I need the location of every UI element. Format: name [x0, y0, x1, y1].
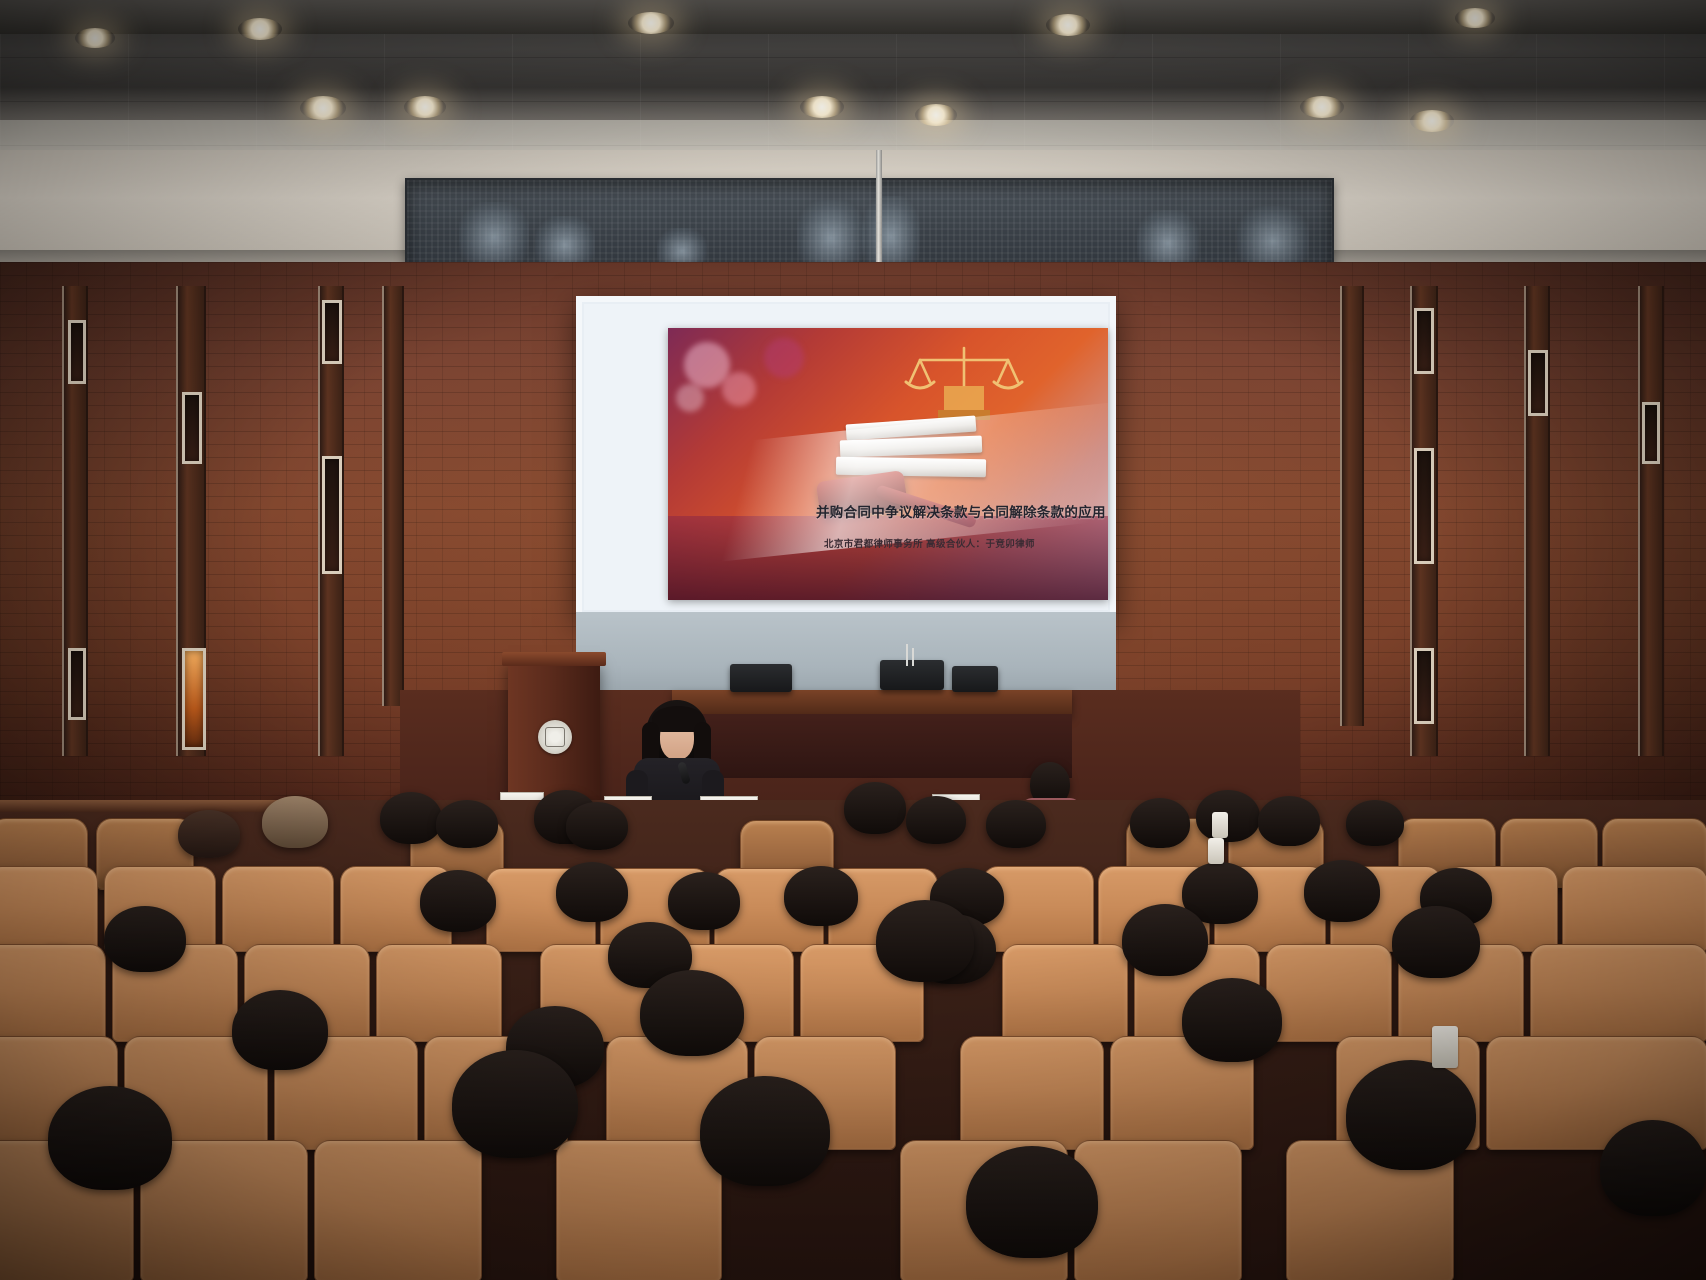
attendee-head [566, 802, 628, 850]
wall-niche [1642, 402, 1660, 464]
seat [960, 1036, 1104, 1150]
screen-surface: 并购合同中争议解决条款与合同解除条款的应用 北京市君都律师事务所 高级合伙人：于… [582, 302, 1110, 612]
attendee-head [966, 1146, 1098, 1258]
seat [1002, 944, 1128, 1042]
wall-niche [322, 456, 342, 574]
slide-subtitle: 北京市君都律师事务所 高级合伙人：于竞卯律师 [824, 536, 1108, 550]
downlight [404, 96, 446, 118]
hair-clip [1432, 1026, 1458, 1068]
presentation-slide: 并购合同中争议解决条款与合同解除条款的应用 北京市君都律师事务所 高级合伙人：于… [668, 328, 1108, 600]
head-table-skirt [672, 714, 1072, 778]
seat [1562, 866, 1706, 952]
attendee-head [262, 796, 328, 848]
downlight [1300, 96, 1344, 118]
downlight [75, 28, 115, 48]
downlight [800, 96, 844, 118]
hair-clip [1208, 838, 1224, 864]
downlight [1455, 8, 1495, 28]
attendee-head [1196, 790, 1260, 842]
attendee-head [104, 906, 186, 972]
seat [314, 1140, 482, 1280]
attendee-head [380, 792, 442, 844]
attendee-head [178, 810, 240, 858]
attendee-head [436, 800, 498, 848]
attendee-head [48, 1086, 172, 1190]
seat [1266, 944, 1392, 1042]
attendee-head [700, 1076, 830, 1186]
downlight [300, 96, 346, 120]
downlight [238, 18, 282, 40]
attendee-head [1182, 978, 1282, 1062]
seat [222, 866, 334, 952]
wall-niche [1414, 648, 1434, 724]
table-microphone [912, 648, 914, 666]
seat [0, 944, 106, 1042]
attendee-head [906, 796, 966, 844]
attendee-head [232, 990, 328, 1070]
seat [556, 1140, 722, 1280]
wall-niche [68, 648, 86, 720]
downlight [1410, 110, 1454, 132]
hair-clip [1212, 812, 1228, 838]
attendee-head [420, 870, 496, 932]
attendee-head [668, 872, 740, 930]
attendee-head [1346, 1060, 1476, 1170]
attendee-head [1304, 860, 1380, 922]
wall-niche [1528, 350, 1548, 416]
wall-slat [382, 286, 404, 706]
table-microphone [906, 644, 908, 666]
wall-niche-lit [182, 648, 206, 750]
attendee-head [1122, 904, 1208, 976]
attendee-head [844, 782, 906, 834]
lecture-hall-photo: 并购合同中争议解决条款与合同解除条款的应用 北京市君都律师事务所 高级合伙人：于… [0, 0, 1706, 1280]
attendee-head [452, 1050, 578, 1158]
attendee-head [1130, 798, 1190, 848]
wall-niche [1414, 308, 1434, 374]
attendee-head [1392, 906, 1480, 978]
downlight [1046, 14, 1090, 36]
seat [1530, 944, 1706, 1042]
attendee-head [1346, 800, 1404, 846]
slide-title: 并购合同中争议解决条款与合同解除条款的应用 [816, 506, 1108, 521]
bokeh-light [764, 338, 804, 378]
monitor-left [730, 664, 792, 692]
seat [1074, 1140, 1242, 1280]
wall-niche [1414, 448, 1434, 564]
attendee-head [876, 900, 974, 982]
attendee-head [986, 800, 1046, 848]
attendee-head [1600, 1120, 1706, 1216]
lectern-top [502, 652, 606, 666]
downlight [915, 104, 957, 126]
attendee-head [640, 970, 744, 1056]
head-table [672, 690, 1072, 716]
monitor-right [952, 666, 998, 692]
bokeh-light [722, 372, 756, 406]
downlight [628, 12, 674, 34]
seat [376, 944, 502, 1042]
wall-slat [1638, 286, 1664, 756]
wall-slat [1340, 286, 1364, 726]
attendee-head [556, 862, 628, 922]
wall-niche [182, 392, 202, 464]
bokeh-light [676, 384, 704, 412]
seat [0, 866, 98, 952]
side-rail [0, 800, 300, 812]
wall-niche [68, 320, 86, 384]
institution-crest-icon [538, 720, 572, 754]
attendee-head [784, 866, 858, 926]
projection-screen: 并购合同中争议解决条款与合同解除条款的应用 北京市君都律师事务所 高级合伙人：于… [576, 296, 1116, 618]
attendee-head [1258, 796, 1320, 846]
wall-niche [322, 300, 342, 364]
